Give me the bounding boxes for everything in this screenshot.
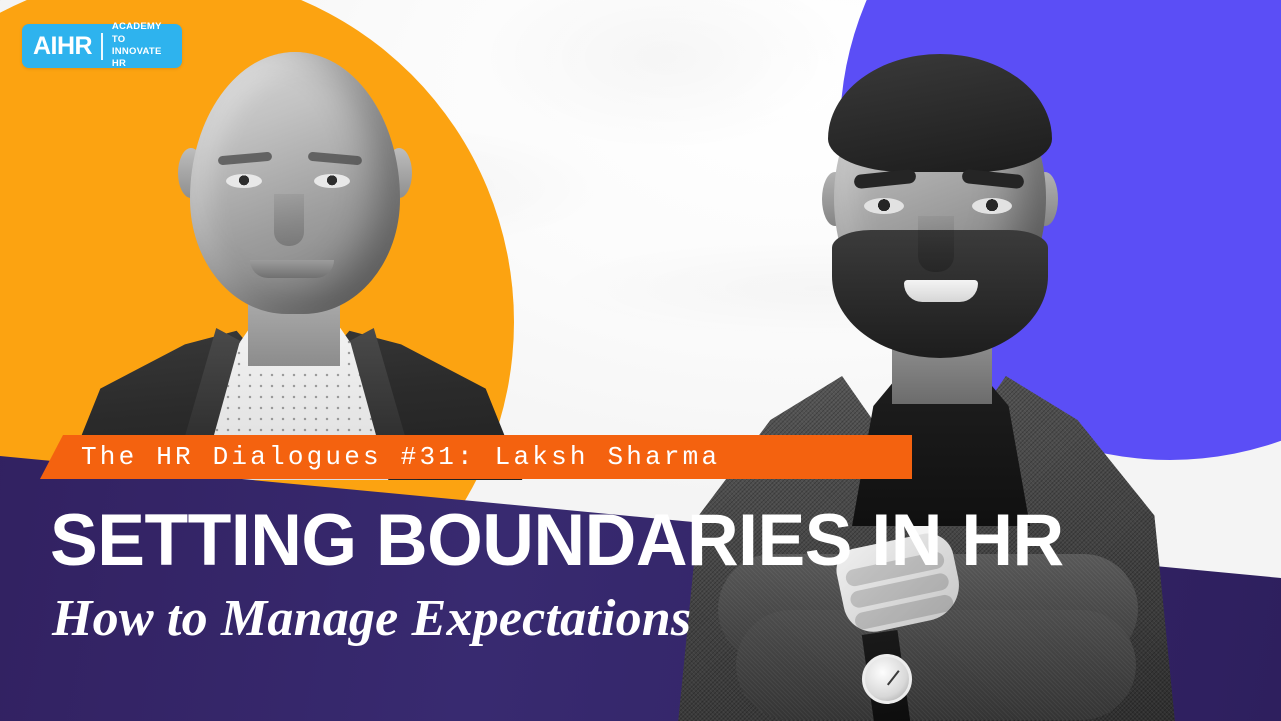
episode-banner: The HR Dialogues #31: Laksh Sharma [40, 435, 912, 479]
guest-eye-right [972, 198, 1012, 214]
thumbnail-canvas: AIHR ACADEMY TO INNOVATE HR The HR Dialo… [0, 0, 1281, 721]
aihr-logo-wordmark: AIHR [33, 34, 92, 59]
host-eye-right [314, 174, 350, 188]
sub-title: How to Manage Expectations [52, 592, 1052, 647]
host-photo [22, 28, 542, 480]
aihr-logo-tagline-line2: INNOVATE HR [112, 46, 162, 69]
guest-nose [918, 216, 954, 272]
aihr-logo[interactable]: AIHR ACADEMY TO INNOVATE HR [22, 24, 182, 68]
episode-banner-label: The HR Dialogues #31: Laksh Sharma [40, 444, 720, 470]
guest-smile [904, 280, 978, 302]
host-eye-left [226, 174, 262, 188]
aihr-logo-tagline-line1: ACADEMY TO [112, 21, 162, 44]
host-nose [274, 194, 304, 246]
aihr-logo-divider [101, 33, 103, 60]
aihr-logo-tagline: ACADEMY TO INNOVATE HR [112, 21, 171, 70]
host-mouth [250, 260, 334, 278]
guest-eye-left [864, 198, 904, 214]
main-title: SETTING BOUNDARIES IN HR [50, 504, 1226, 577]
guest-hair [828, 54, 1052, 172]
guest-watch-face [862, 654, 912, 704]
